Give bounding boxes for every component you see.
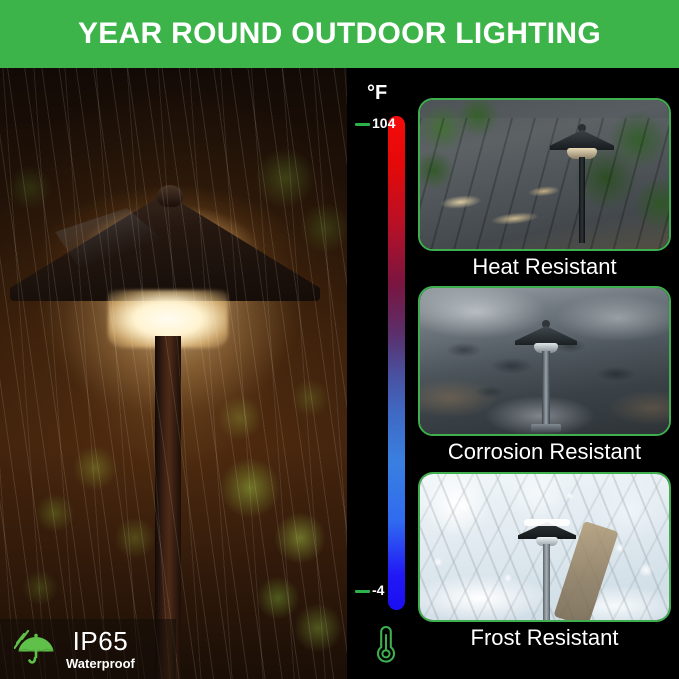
light-base bbox=[531, 424, 561, 432]
ip65-text-group: IP65 Waterproof bbox=[66, 628, 135, 670]
feature-card-heat[interactable]: Heat Resistant bbox=[418, 98, 671, 279]
umbrella-icon bbox=[14, 628, 58, 670]
tick-mark-low bbox=[355, 590, 370, 593]
feature-card-frost-image bbox=[418, 472, 671, 622]
light-shade bbox=[550, 130, 614, 150]
thermometer-icon bbox=[373, 624, 399, 664]
feature-card-corrosion[interactable]: Corrosion Resistant bbox=[418, 286, 671, 464]
rain-streaks-secondary bbox=[0, 68, 347, 679]
feature-card-corrosion-image bbox=[418, 286, 671, 436]
feature-card-frost[interactable]: Frost Resistant bbox=[418, 472, 671, 650]
tick-mark-high bbox=[355, 123, 370, 126]
temperature-high-value: 104 bbox=[372, 116, 395, 130]
light-stem bbox=[542, 351, 550, 429]
falling-snowflakes bbox=[420, 474, 669, 620]
temperature-low-value: -4 bbox=[372, 583, 384, 597]
hero-image: IP65 Waterproof bbox=[0, 68, 347, 679]
pathway-light-corrosion bbox=[515, 312, 577, 434]
pathway-light-heat bbox=[550, 118, 614, 246]
ip65-subtitle: Waterproof bbox=[66, 657, 135, 670]
temperature-scale: °F 104 -4 bbox=[347, 68, 410, 679]
temperature-unit-label: °F bbox=[367, 82, 387, 105]
product-feature-infographic: YEAR ROUND OUTDOOR LIGHTING bbox=[0, 0, 679, 679]
feature-card-heat-label: Heat Resistant bbox=[418, 255, 671, 279]
feature-card-corrosion-label: Corrosion Resistant bbox=[418, 440, 671, 464]
header-banner: YEAR ROUND OUTDOOR LIGHTING bbox=[0, 0, 679, 68]
feature-card-heat-image bbox=[418, 98, 671, 251]
light-stem bbox=[579, 157, 585, 243]
feature-card-frost-label: Frost Resistant bbox=[418, 626, 671, 650]
page-title: YEAR ROUND OUTDOOR LIGHTING bbox=[78, 19, 601, 49]
temperature-gradient-bar bbox=[388, 116, 405, 610]
feature-card-list: Heat Resistant Corrosion Resistant bbox=[410, 68, 679, 679]
ip65-rating: IP65 bbox=[73, 628, 129, 654]
ip65-waterproof-badge: IP65 Waterproof bbox=[0, 619, 176, 679]
